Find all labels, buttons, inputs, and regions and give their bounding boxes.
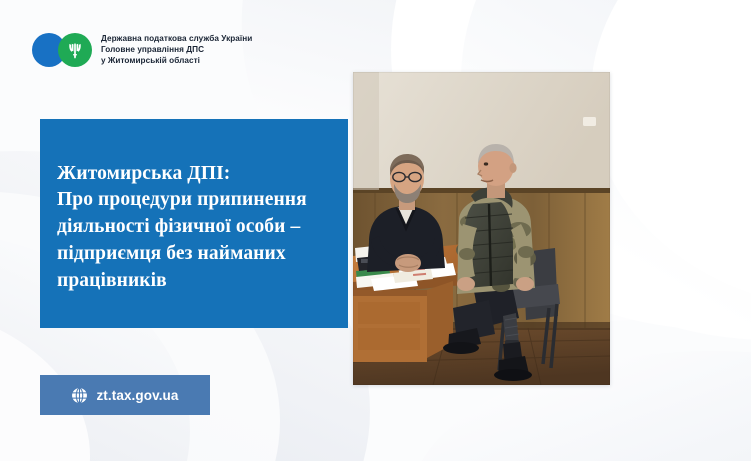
org-line-1: Державна податкова служба України <box>101 34 252 44</box>
title-panel: Житомирська ДПІ: Про процедури припиненн… <box>40 119 348 328</box>
logo-green-circle-icon <box>58 33 92 67</box>
header: Державна податкова служба України Головн… <box>32 33 252 67</box>
website-url: zt.tax.gov.ua <box>96 388 178 403</box>
headline: Житомирська ДПІ: Про процедури припиненн… <box>40 161 307 295</box>
headline-line-2: Про процедури припинення <box>57 187 307 214</box>
headline-line-1: Житомирська ДПІ: <box>57 161 307 188</box>
headline-line-4: підприємця без найманих <box>57 241 307 268</box>
org-line-3: у Житомирській області <box>101 56 252 66</box>
website-badge[interactable]: zt.tax.gov.ua <box>40 375 210 415</box>
logo <box>32 33 92 67</box>
headline-line-5: працівників <box>57 268 307 295</box>
photo-illustration <box>353 72 610 385</box>
org-line-2: Головне управління ДПС <box>101 45 252 55</box>
globe-icon <box>71 387 88 404</box>
poster-canvas: Державна податкова служба України Головн… <box>0 0 751 461</box>
ukraine-trident-icon <box>68 42 82 59</box>
organisation-name: Державна податкова служба України Головн… <box>101 34 252 65</box>
photo-office-meeting <box>353 72 610 385</box>
headline-line-3: діяльності фізичної особи – <box>57 214 307 241</box>
